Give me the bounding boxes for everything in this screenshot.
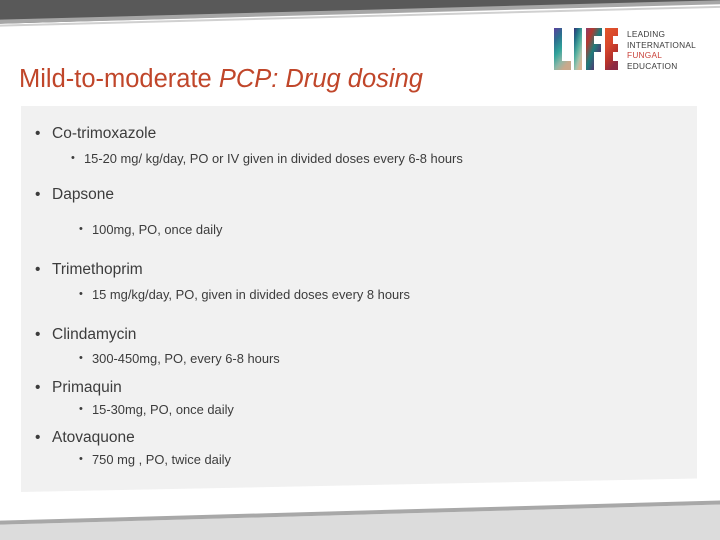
content-body: • Co-trimoxazole • 15-20 mg/ kg/day, PO … — [21, 106, 697, 492]
drug-name: Clindamycin — [52, 326, 136, 343]
bullet-group-trimethoprim: • Trimethoprim • 15 mg/kg/day, PO, given… — [21, 260, 697, 303]
bottom-light-band-decoration — [0, 504, 720, 540]
bullet-glyph-icon: • — [79, 451, 83, 468]
logo-line-education: EDUCATION — [627, 61, 696, 72]
list-item-dose: • 15 mg/kg/day, PO, given in divided dos… — [21, 286, 697, 303]
slide-canvas: LEADING INTERNATIONAL FUNGAL EDUCATION M… — [0, 0, 720, 540]
bullet-group-cotrimoxazole: • Co-trimoxazole • 15-20 mg/ kg/day, PO … — [21, 124, 697, 167]
bullet-group-clindamycin: • Clindamycin • 300-450mg, PO, every 6-8… — [21, 325, 697, 367]
drug-dose: 15-30mg, PO, once daily — [92, 402, 234, 417]
bullet-group-primaquin: • Primaquin • 15-30mg, PO, once daily — [21, 378, 697, 418]
bullet-glyph-icon: • — [35, 124, 40, 144]
slide-title-regular-part: Mild-to-moderate — [19, 65, 219, 93]
drug-dose: 300-450mg, PO, every 6-8 hours — [92, 351, 280, 366]
life-logo: LEADING INTERNATIONAL FUNGAL EDUCATION — [553, 27, 715, 75]
list-item-drug: • Co-trimoxazole — [21, 124, 697, 144]
list-item-dose: • 100mg, PO, once daily — [21, 221, 697, 238]
bullet-glyph-icon: • — [35, 260, 40, 280]
drug-dose: 750 mg , PO, twice daily — [92, 452, 231, 467]
list-item-dose: • 15-20 mg/ kg/day, PO or IV given in di… — [21, 150, 697, 167]
logo-line-international: INTERNATIONAL — [627, 40, 696, 51]
bullet-glyph-icon: • — [35, 428, 40, 448]
slide-title: Mild-to-moderate PCP: Drug dosing — [19, 64, 539, 94]
list-item-drug: • Clindamycin — [21, 325, 697, 345]
bullet-glyph-icon: • — [79, 221, 83, 238]
slide-title-italic-part: PCP: Drug dosing — [219, 65, 423, 93]
bullet-glyph-icon: • — [71, 150, 75, 167]
drug-dose: 15 mg/kg/day, PO, given in divided doses… — [92, 287, 410, 302]
list-item-drug: • Trimethoprim — [21, 260, 697, 280]
drug-dose: 15-20 mg/ kg/day, PO or IV given in divi… — [84, 151, 463, 166]
drug-name: Trimethoprim — [52, 261, 143, 278]
list-item-drug: • Primaquin — [21, 378, 697, 398]
list-item-dose: • 300-450mg, PO, every 6-8 hours — [21, 350, 697, 367]
drug-name: Primaquin — [52, 379, 122, 396]
bullet-group-atovaquone: • Atovaquone • 750 mg , PO, twice daily — [21, 428, 697, 468]
bullet-glyph-icon: • — [35, 378, 40, 398]
bullet-glyph-icon: • — [79, 350, 83, 367]
life-logomark-icon — [553, 27, 619, 71]
list-item-drug: • Dapsone — [21, 185, 697, 205]
bullet-glyph-icon: • — [79, 286, 83, 303]
bullet-group-dapsone: • Dapsone • 100mg, PO, once daily — [21, 185, 697, 238]
bullet-glyph-icon: • — [35, 325, 40, 345]
list-item-dose: • 15-30mg, PO, once daily — [21, 401, 697, 418]
logo-line-fungal: FUNGAL — [627, 50, 696, 61]
drug-name: Dapsone — [52, 186, 114, 203]
bullet-glyph-icon: • — [35, 185, 40, 205]
drug-name: Co-trimoxazole — [52, 125, 156, 142]
drug-dose: 100mg, PO, once daily — [92, 222, 222, 237]
logo-line-leading: LEADING — [627, 29, 696, 40]
bullet-glyph-icon: • — [79, 401, 83, 418]
drug-name: Atovaquone — [52, 429, 135, 446]
list-item-dose: • 750 mg , PO, twice daily — [21, 451, 697, 468]
life-logo-wordmark: LEADING INTERNATIONAL FUNGAL EDUCATION — [627, 27, 696, 71]
list-item-drug: • Atovaquone — [21, 428, 697, 448]
